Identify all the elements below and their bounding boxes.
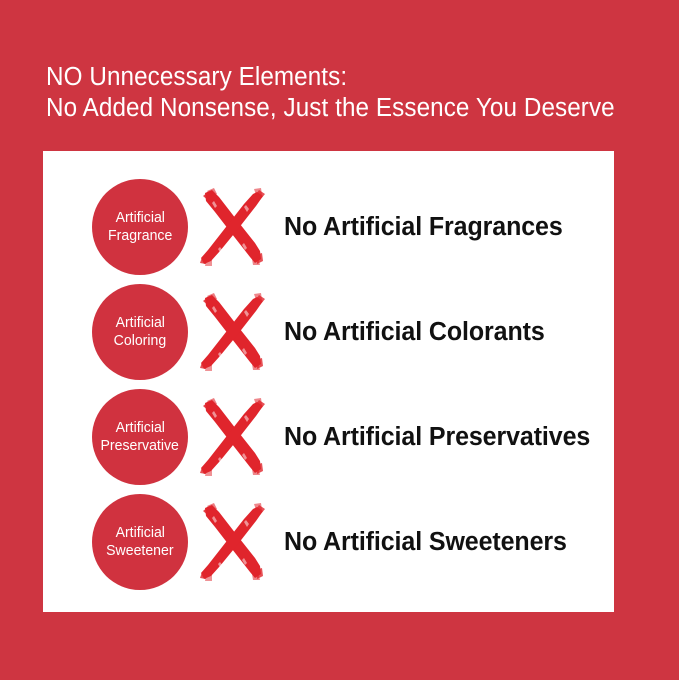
content-card: Artificial Fragrance (43, 151, 614, 612)
headline: NO Unnecessary Elements: No Added Nonsen… (46, 62, 616, 124)
badge-label-line-2: Sweetener (106, 542, 173, 561)
badge-label-line-1: Artificial (115, 524, 164, 543)
badge-label-line-1: Artificial (115, 314, 164, 333)
headline-line-2: No Added Nonsense, Just the Essence You … (46, 93, 616, 124)
claims-list: Artificial Fragrance (43, 151, 614, 612)
list-item: Artificial Coloring (92, 284, 612, 380)
badge-artificial-preservative: Artificial Preservative (92, 389, 188, 485)
x-mark-icon (192, 500, 270, 584)
x-mark-icon (192, 395, 270, 479)
badge-label-line-2: Preservative (101, 437, 179, 456)
list-item: Artificial Fragrance (92, 179, 612, 275)
claim-label: No Artificial Colorants (284, 318, 545, 347)
badge-label-line-1: Artificial (115, 419, 164, 438)
badge-artificial-fragrance: Artificial Fragrance (92, 179, 188, 275)
badge-artificial-sweetener: Artificial Sweetener (92, 494, 188, 590)
claim-label: No Artificial Sweeteners (284, 528, 567, 557)
claim-label: No Artificial Preservatives (284, 423, 590, 452)
list-item: Artificial Sweetener (92, 494, 612, 590)
claim-label: No Artificial Fragrances (284, 213, 563, 242)
list-item: Artificial Preservative (92, 389, 612, 485)
badge-label-line-2: Coloring (114, 332, 167, 351)
poster-canvas: NO Unnecessary Elements: No Added Nonsen… (0, 0, 679, 680)
badge-artificial-coloring: Artificial Coloring (92, 284, 188, 380)
badge-label-line-2: Fragrance (108, 227, 172, 246)
headline-line-1: NO Unnecessary Elements: (46, 62, 616, 93)
x-mark-icon (192, 290, 270, 374)
x-mark-icon (192, 185, 270, 269)
badge-label-line-1: Artificial (115, 209, 164, 228)
